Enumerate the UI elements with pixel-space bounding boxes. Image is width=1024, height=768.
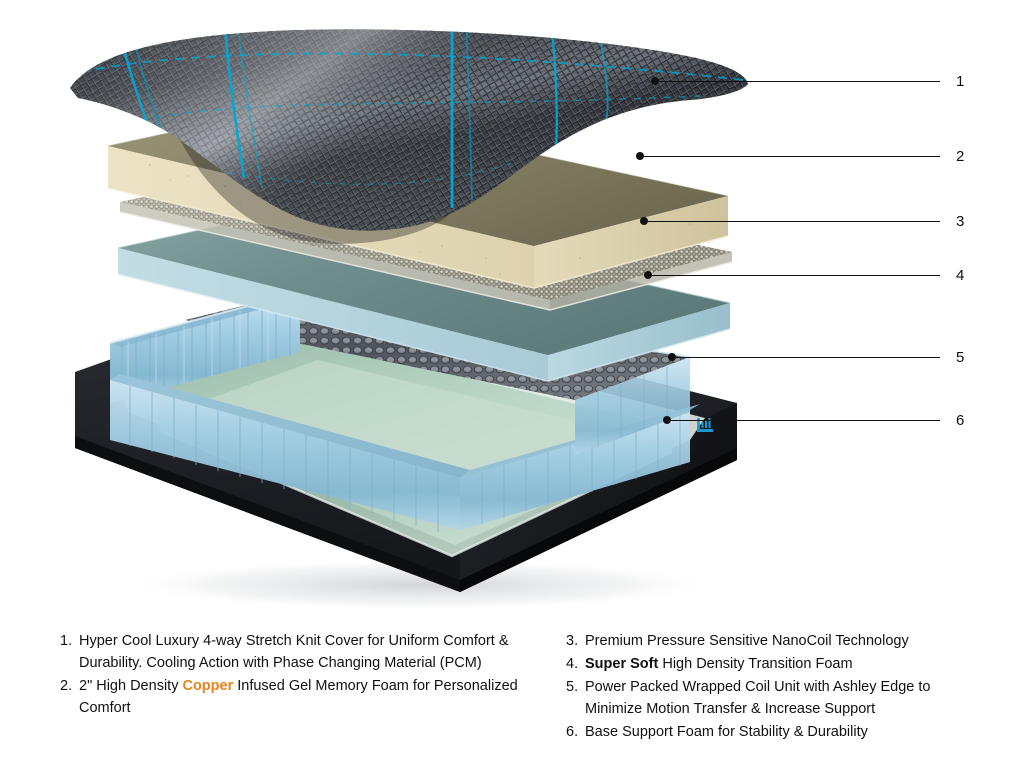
legend-left-item: 1.Hyper Cool Luxury 4-way Stretch Knit C… bbox=[60, 630, 560, 674]
callout-dot-3 bbox=[640, 217, 648, 225]
legend-item-number: 1. bbox=[60, 630, 79, 652]
legend-column-left: 1.Hyper Cool Luxury 4-way Stretch Knit C… bbox=[60, 630, 560, 720]
legend-highlight-copper: Copper bbox=[182, 678, 233, 694]
legend-item-text: Premium Pressure Sensitive NanoCoil Tech… bbox=[585, 630, 986, 652]
callout-number-6: 6 bbox=[956, 413, 964, 428]
mattress-construction-infographic: 1 2 3 4 5 6 1.Hyper Cool Luxury 4-way St… bbox=[0, 0, 1024, 768]
legend-item-text: Hyper Cool Luxury 4-way Stretch Knit Cov… bbox=[79, 630, 560, 674]
diagram-svg bbox=[0, 0, 1024, 620]
legend-highlight-bold: Super Soft bbox=[585, 656, 658, 672]
legend-right-item: 4.Super Soft High Density Transition Foa… bbox=[566, 653, 986, 675]
legend-text-segment: Premium Pressure Sensitive NanoCoil Tech… bbox=[585, 633, 909, 649]
legend-item-text: Super Soft High Density Transition Foam bbox=[585, 653, 986, 675]
legend-item-number: 2. bbox=[60, 675, 79, 697]
callout-dot-5 bbox=[668, 353, 676, 361]
legend-text-segment: High Density Transition Foam bbox=[658, 656, 852, 672]
callout-line-3 bbox=[648, 221, 940, 222]
legend-right-item: 3.Premium Pressure Sensitive NanoCoil Te… bbox=[566, 630, 986, 652]
legend-item-number: 3. bbox=[566, 630, 585, 652]
callout-number-3: 3 bbox=[956, 214, 964, 229]
callout-number-5: 5 bbox=[956, 350, 964, 365]
legend-text-segment: Base Support Foam for Stability & Durabi… bbox=[585, 724, 868, 740]
legend-column-right: 3.Premium Pressure Sensitive NanoCoil Te… bbox=[566, 630, 986, 744]
callout-line-4 bbox=[652, 275, 940, 276]
legend-text-segment: Power Packed Wrapped Coil Unit with Ashl… bbox=[585, 679, 931, 717]
legend-text-segment: Hyper Cool Luxury 4-way Stretch Knit Cov… bbox=[79, 633, 509, 671]
callout-dot-4 bbox=[644, 271, 652, 279]
callout-dot-2 bbox=[636, 152, 644, 160]
callout-dot-1 bbox=[651, 77, 659, 85]
legend-text-segment: 2" High Density bbox=[79, 678, 182, 694]
callout-line-1 bbox=[659, 81, 940, 82]
callout-dot-6 bbox=[663, 416, 671, 424]
callout-number-2: 2 bbox=[956, 149, 964, 164]
legend-item-number: 4. bbox=[566, 653, 585, 675]
legend-right-item: 5.Power Packed Wrapped Coil Unit with As… bbox=[566, 676, 986, 720]
legend: 1.Hyper Cool Luxury 4-way Stretch Knit C… bbox=[0, 630, 1024, 768]
callout-number-4: 4 bbox=[956, 268, 964, 283]
legend-item-number: 5. bbox=[566, 676, 585, 698]
exploded-mattress-diagram: 1 2 3 4 5 6 bbox=[0, 0, 1024, 620]
callout-line-5 bbox=[676, 357, 940, 358]
legend-right-item: 6.Base Support Foam for Stability & Dura… bbox=[566, 721, 986, 743]
legend-item-text: Power Packed Wrapped Coil Unit with Ashl… bbox=[585, 676, 986, 720]
callout-line-6 bbox=[671, 420, 940, 421]
legend-item-text: Base Support Foam for Stability & Durabi… bbox=[585, 721, 986, 743]
legend-item-number: 6. bbox=[566, 721, 585, 743]
legend-item-text: 2" High Density Copper Infused Gel Memor… bbox=[79, 675, 560, 719]
callout-line-2 bbox=[644, 156, 940, 157]
legend-left-item: 2.2" High Density Copper Infused Gel Mem… bbox=[60, 675, 560, 719]
callout-number-1: 1 bbox=[956, 74, 964, 89]
